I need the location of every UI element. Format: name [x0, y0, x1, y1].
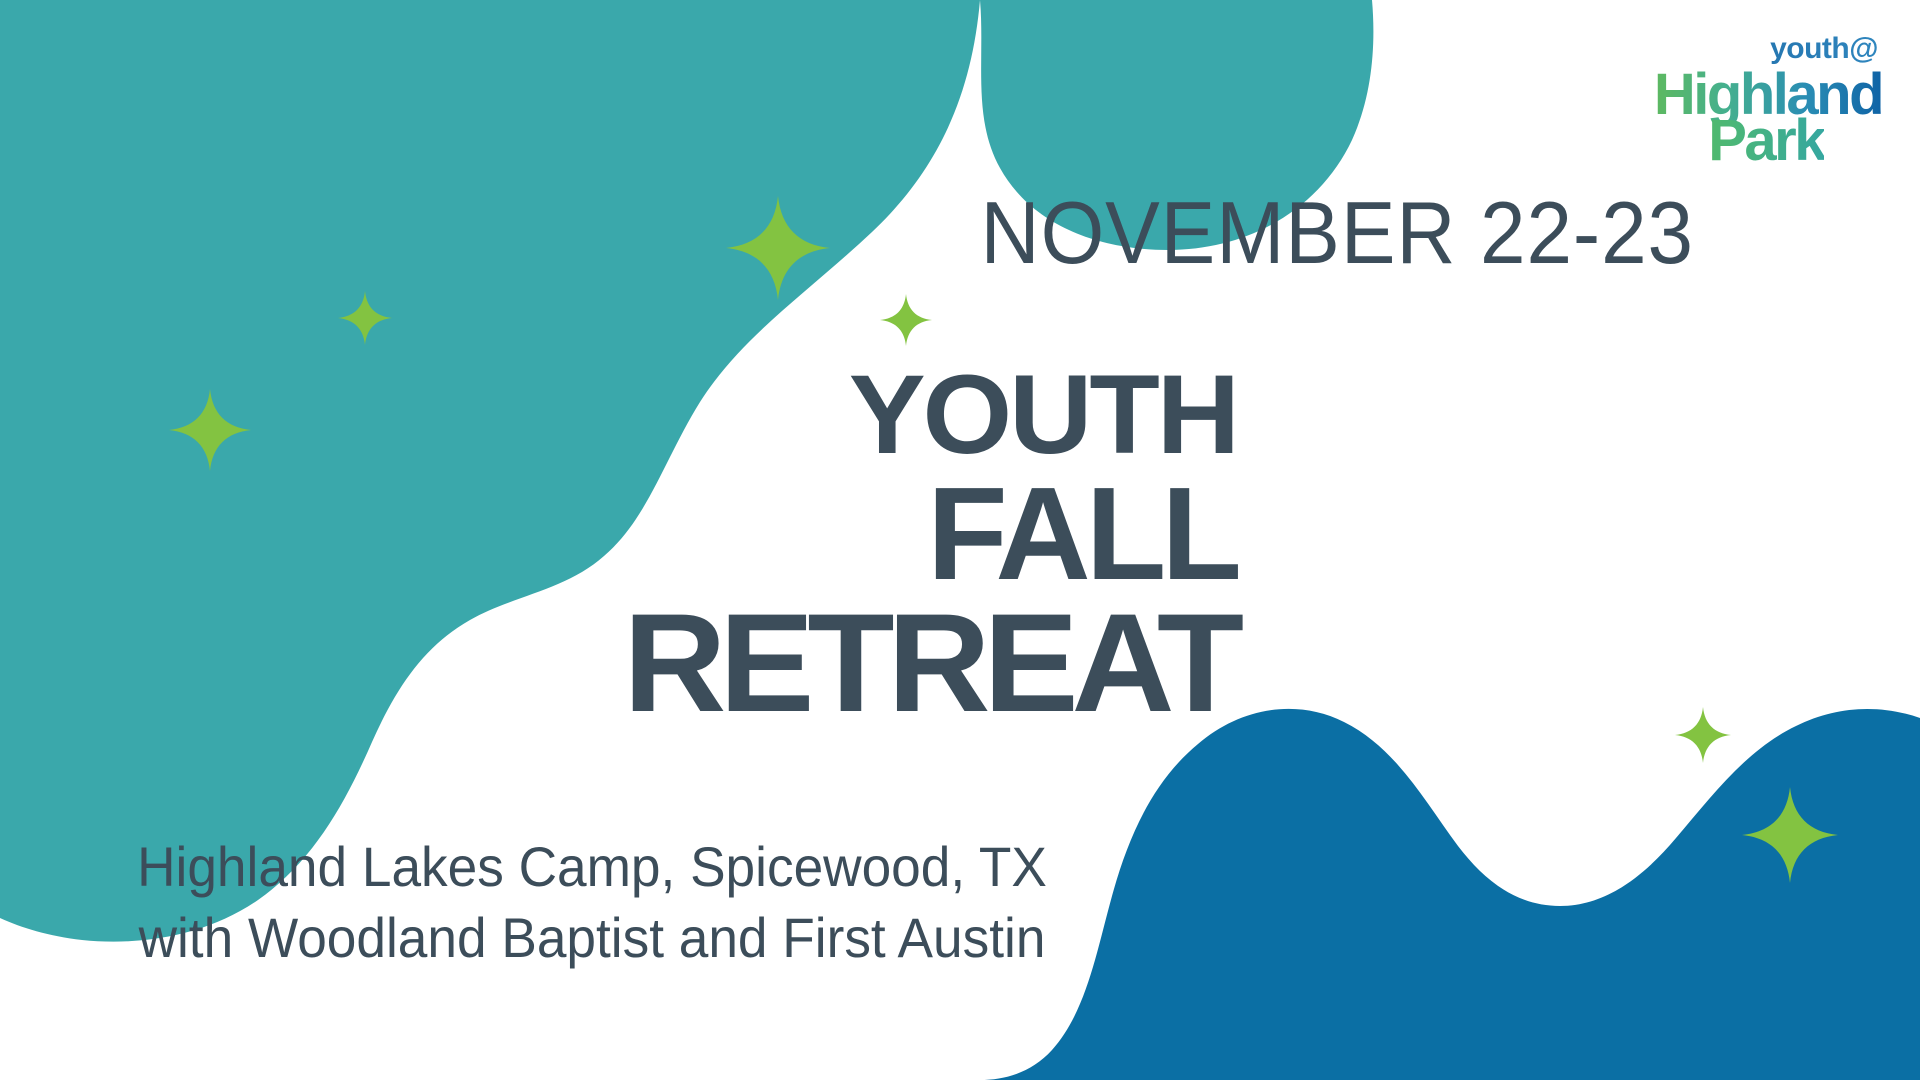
venue-partners: with Woodland Baptist and First Austin — [30, 903, 1155, 974]
venue-location: Highland Lakes Camp, Spicewood, TX — [30, 832, 1155, 903]
sparkle-large-on-blue — [1742, 787, 1838, 883]
sparkle-small-upper-left — [338, 291, 392, 345]
title-line-fall: FALL — [0, 472, 1237, 596]
logo-park-text: Park — [1612, 112, 1824, 170]
title-line-youth: YOUTH — [0, 358, 1237, 472]
title-line-retreat: RETREAT — [0, 596, 1237, 729]
event-venue: Highland Lakes Camp, Spicewood, TX with … — [30, 832, 1155, 973]
logo-youth-at-text: youth@ — [1612, 34, 1878, 64]
event-date: NOVEMBER 22-23 — [119, 182, 1694, 284]
sparkle-small-lower-right — [1675, 707, 1731, 763]
event-title: YOUTH FALL RETREAT — [0, 358, 1237, 729]
sparkle-small-near-date — [880, 294, 932, 346]
event-promo-poster: youth@ Highland Park NOVEMBER 22-23 YOUT… — [0, 0, 1920, 1080]
brand-logo: youth@ Highland Park — [1612, 34, 1882, 154]
